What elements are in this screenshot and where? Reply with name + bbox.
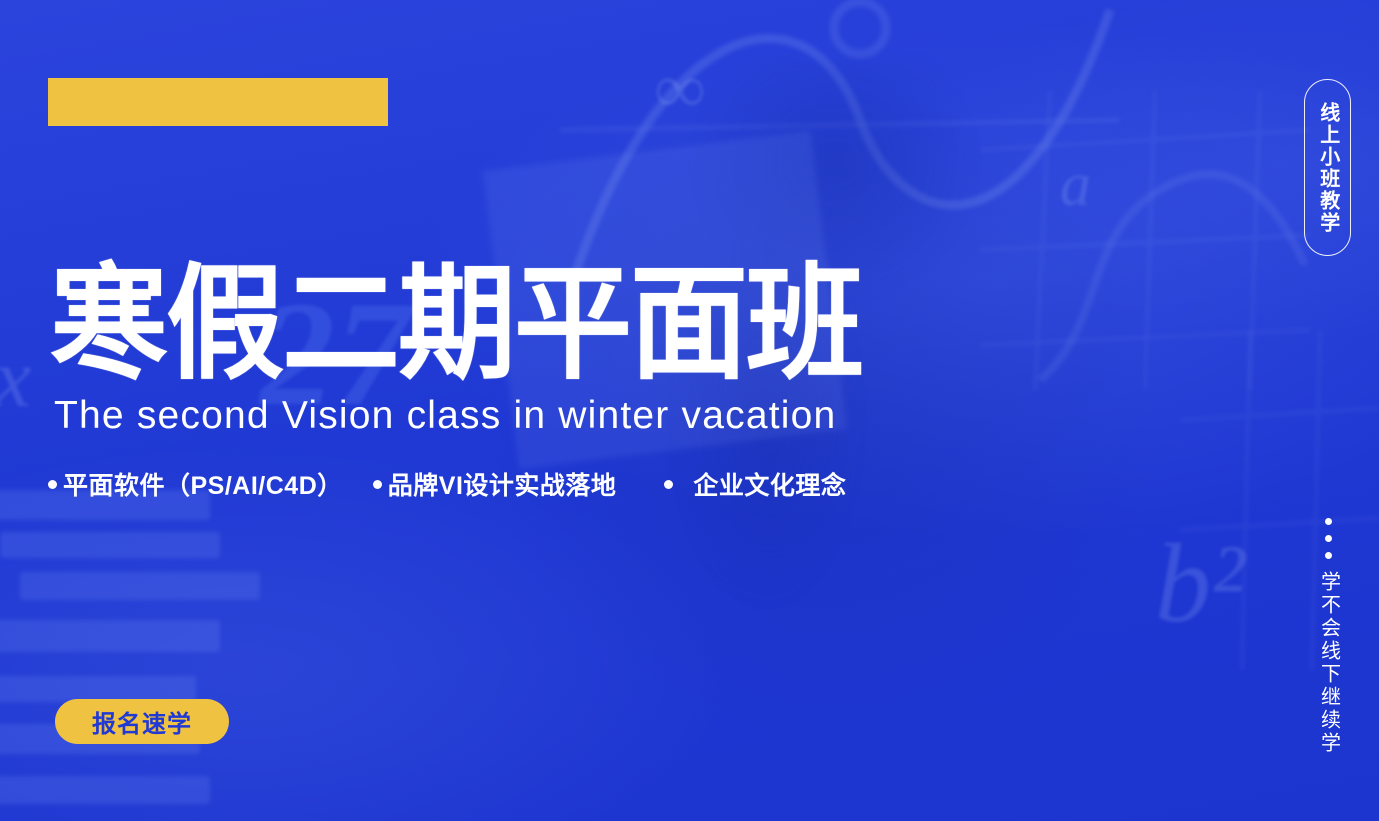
bullet-dot-icon [48,480,57,489]
feature-label: 企业文化理念 [693,466,846,502]
chalk-formula-a: a [1060,150,1091,221]
poster-canvas: b² a ∞ 27 x 寒假二期平面班 The second Vision cl… [0,0,1379,821]
bullet-dot-icon [373,480,382,489]
feature-list: 平面软件（PS/AI/C4D） 品牌VI设计实战落地 企业文化理念 [48,466,846,502]
three-dots-icon [1325,518,1332,559]
feature-item-culture: 企业文化理念 [664,466,846,502]
chalk-formula-b2: b² [1155,520,1245,649]
signup-button[interactable]: 报名速学 [55,699,229,744]
online-class-badge-label: 线上小班教学 [1314,102,1340,234]
page-title: 寒假二期平面班 [50,262,862,387]
feature-item-software: 平面软件（PS/AI/C4D） [48,466,343,502]
bullet-dot-icon [664,480,673,489]
chalk-formula-x: x [0,330,31,427]
page-subtitle: The second Vision class in winter vacati… [54,396,836,435]
feature-label: 品牌VI设计实战落地 [388,466,617,502]
online-class-badge: 线上小班教学 [1304,79,1351,256]
guarantee-slogan-label: 学不会线下继续学 [1314,571,1343,755]
guarantee-slogan: 学不会线下继续学 [1306,518,1350,755]
decorative-yellow-bar [48,78,388,126]
feature-label: 平面软件（PS/AI/C4D） [63,466,343,502]
feature-item-brand-vi: 品牌VI设计实战落地 [373,466,617,502]
background-books-layer [0,480,400,821]
